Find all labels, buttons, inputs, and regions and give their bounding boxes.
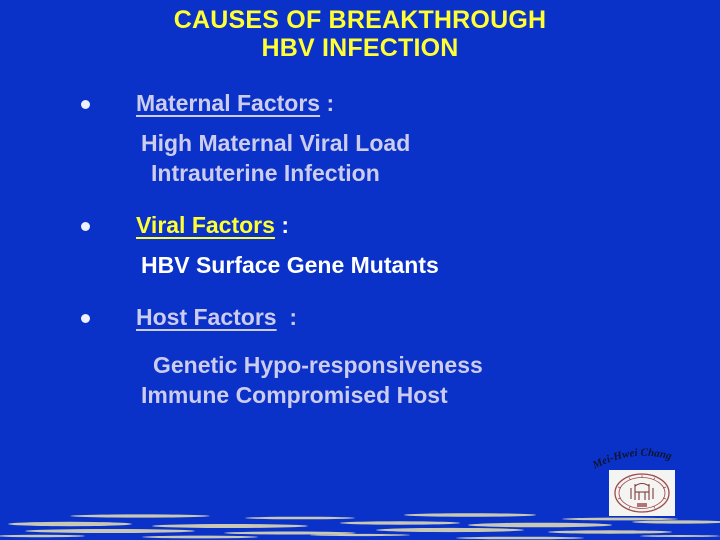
bottom-streak-decoration xyxy=(0,500,720,540)
spacer xyxy=(0,280,720,302)
bullet-group-host: Host Factors : Genetic Hypo-responsivene… xyxy=(0,302,720,410)
heading-maternal-factors: Maternal Factors : xyxy=(136,88,334,118)
bullet-group-maternal: Maternal Factors : High Maternal Viral L… xyxy=(0,88,720,188)
colon-glyph: : xyxy=(289,304,297,330)
heading-viral-factors: Viral Factors : xyxy=(136,210,289,240)
spacer xyxy=(0,188,720,210)
bullet-row-host: Host Factors : xyxy=(0,302,720,334)
title-line-1: CAUSES OF BREAKTHROUGH xyxy=(0,6,720,34)
bullet-row-maternal: Maternal Factors : xyxy=(0,88,720,120)
bullet-dot-icon xyxy=(81,314,90,323)
sub-list-viral: HBV Surface Gene Mutants xyxy=(0,250,720,280)
sub-item-maternal-1: High Maternal Viral Load xyxy=(141,128,720,158)
title-line-2: HBV INFECTION xyxy=(0,34,720,62)
heading-maternal-factors-label: Maternal Factors xyxy=(136,90,320,116)
heading-viral-factors-colon: : xyxy=(275,212,289,238)
heading-maternal-factors-colon: : xyxy=(320,90,334,116)
colon-glyph: : xyxy=(281,212,289,238)
sub-list-maternal: High Maternal Viral Load Intrauterine In… xyxy=(0,128,720,188)
spacer xyxy=(0,242,720,250)
bullet-row-viral: Viral Factors : xyxy=(0,210,720,242)
bullet-dot-icon xyxy=(81,100,90,109)
bullet-dot-icon xyxy=(81,222,90,231)
sub-item-host-1: Genetic Hypo-responsiveness xyxy=(141,350,720,380)
sub-list-host: Genetic Hypo-responsiveness Immune Compr… xyxy=(0,350,720,410)
heading-host-factors: Host Factors : xyxy=(136,302,297,332)
heading-host-factors-colon: : xyxy=(277,304,297,330)
signature-name-label: Mei-Hwei Chang xyxy=(590,447,674,472)
heading-host-factors-label: Host Factors xyxy=(136,304,277,330)
spacer xyxy=(0,334,720,350)
sub-item-host-2: Immune Compromised Host xyxy=(141,380,720,410)
slide-body: Maternal Factors : High Maternal Viral L… xyxy=(0,88,720,428)
spacer xyxy=(0,120,720,128)
sub-item-maternal-2: Intrauterine Infection xyxy=(141,158,720,188)
bullet-group-viral: Viral Factors : HBV Surface Gene Mutants xyxy=(0,210,720,280)
colon-glyph: : xyxy=(326,90,334,116)
signature-arc-text: Mei-Hwei Chang xyxy=(586,443,696,473)
heading-viral-factors-label: Viral Factors xyxy=(136,212,275,238)
page-title: CAUSES OF BREAKTHROUGH HBV INFECTION xyxy=(0,6,720,62)
slide-canvas: CAUSES OF BREAKTHROUGH HBV INFECTION Mat… xyxy=(0,0,720,540)
sub-item-viral-1: HBV Surface Gene Mutants xyxy=(141,250,720,280)
